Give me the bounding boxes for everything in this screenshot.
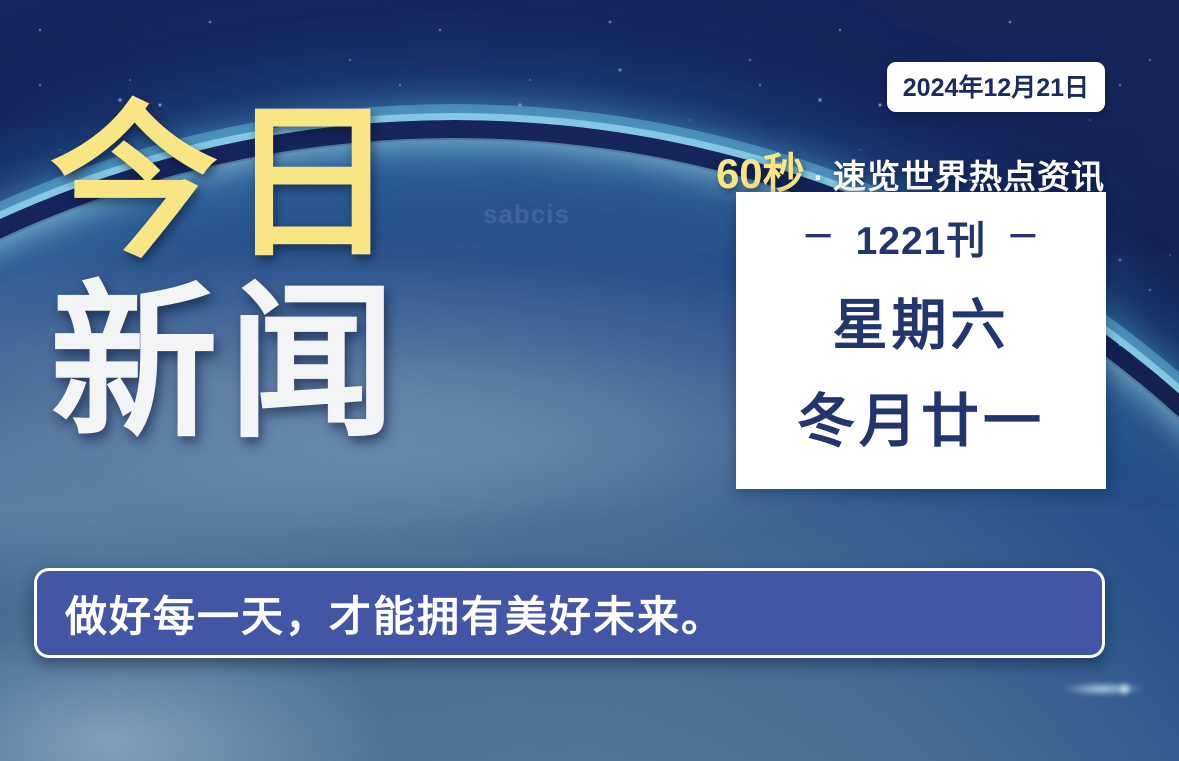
- headline-top: 今日: [50, 100, 490, 266]
- page-title: 今日 新闻: [50, 100, 490, 447]
- issue-row: － 1221刊 －: [802, 210, 1041, 266]
- issue-number: 1221刊: [856, 210, 987, 266]
- news-poster: 今日 新闻 sabcis 2024年12月21日 60秒 · 速览世界热点资讯 …: [0, 0, 1179, 761]
- weekday-label: 星期六: [832, 280, 1009, 360]
- date-badge: 2024年12月21日: [887, 62, 1105, 112]
- slogan-text: 做好每一天，才能拥有美好未来。: [37, 583, 725, 644]
- slogan-banner: 做好每一天，才能拥有美好未来。: [34, 568, 1105, 658]
- tagline-separator: ·: [814, 160, 824, 196]
- issue-info-card: － 1221刊 － 星期六 冬月廿一: [736, 192, 1106, 489]
- watermark: sabcis: [483, 199, 570, 230]
- tagline-text: 速览世界热点资讯: [833, 150, 1105, 198]
- lunar-date-label: 冬月廿一: [797, 374, 1045, 458]
- issue-dash-right: －: [1006, 220, 1040, 253]
- issue-dash-left: －: [802, 220, 836, 253]
- headline-bottom: 新闻: [50, 280, 490, 446]
